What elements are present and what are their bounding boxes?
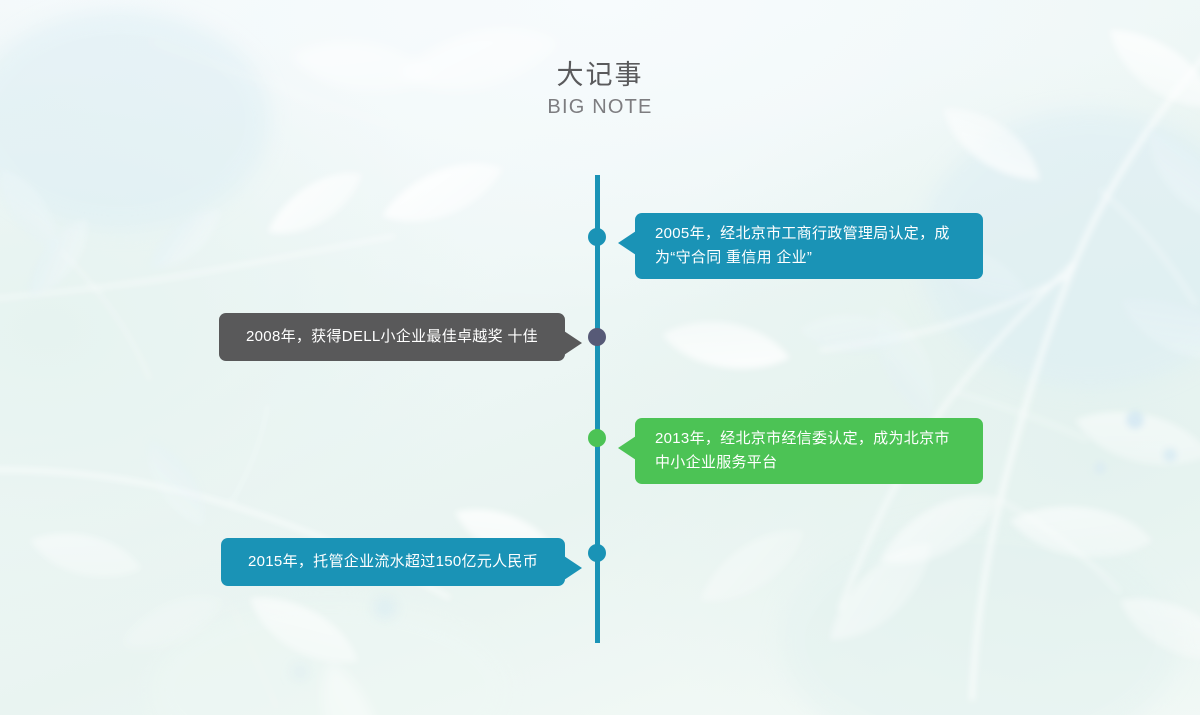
- timeline-callout-text-2008: 2008年，获得DELL小企业最佳卓越奖 十佳: [246, 325, 538, 349]
- timeline-dot-2015[interactable]: [588, 544, 606, 562]
- slide-canvas: 大记事 BIG NOTE 2005年，经北京市工商行政管理局认定，成 为“守合同…: [0, 0, 1200, 715]
- timeline-callout-2008[interactable]: 2008年，获得DELL小企业最佳卓越奖 十佳: [219, 313, 565, 361]
- timeline-callout-text-2013: 2013年，经北京市经信委认定，成为北京市 中小企业服务平台: [655, 427, 950, 475]
- timeline-callout-2015[interactable]: 2015年，托管企业流水超过150亿元人民币: [221, 538, 565, 586]
- timeline-dot-2005[interactable]: [588, 228, 606, 246]
- page-header: 大记事 BIG NOTE: [0, 58, 1200, 120]
- timeline-callout-2005[interactable]: 2005年，经北京市工商行政管理局认定，成 为“守合同 重信用 企业”: [635, 213, 983, 279]
- timeline-callout-2013[interactable]: 2013年，经北京市经信委认定，成为北京市 中小企业服务平台: [635, 418, 983, 484]
- page-title-en: BIG NOTE: [0, 94, 1200, 120]
- page-title-cn: 大记事: [0, 58, 1200, 92]
- timeline-callout-text-2015: 2015年，托管企业流水超过150亿元人民币: [248, 550, 538, 574]
- timeline-callout-text-2005: 2005年，经北京市工商行政管理局认定，成 为“守合同 重信用 企业”: [655, 222, 950, 270]
- timeline-dot-2008[interactable]: [588, 328, 606, 346]
- timeline-dot-2013[interactable]: [588, 429, 606, 447]
